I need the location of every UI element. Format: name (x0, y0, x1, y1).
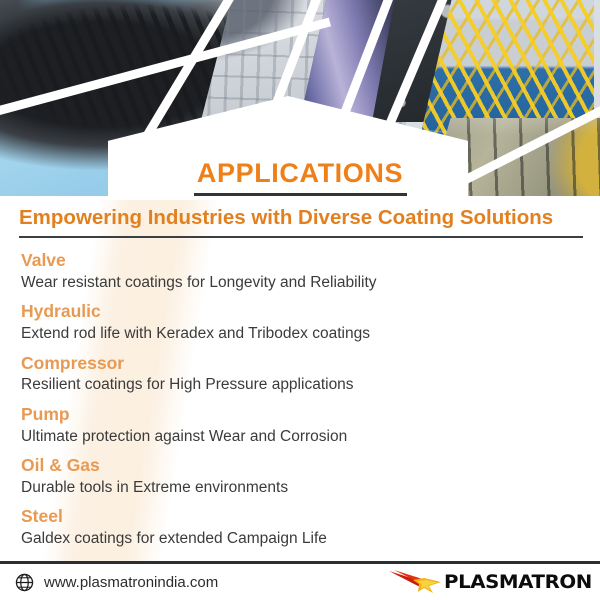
application-description: Resilient coatings for High Pressure app… (21, 375, 581, 394)
list-item: Compressor Resilient coatings for High P… (21, 353, 581, 395)
list-item: Hydraulic Extend rod life with Keradex a… (21, 301, 581, 343)
subtitle: Empowering Industries with Diverse Coati… (19, 206, 583, 230)
collage-bottom-edge (0, 196, 600, 200)
application-description: Galdex coatings for extended Campaign Li… (21, 529, 581, 548)
subtitle-block: Empowering Industries with Diverse Coati… (19, 206, 583, 238)
footer: www.plasmatronindia.com PLASMATRON (0, 564, 600, 600)
plasmatron-logo[interactable]: PLASMATRON (388, 567, 586, 597)
comet-spark-icon (388, 569, 450, 595)
website-url-text: www.plasmatronindia.com (44, 575, 218, 590)
list-item: Steel Galdex coatings for extended Campa… (21, 506, 581, 548)
list-item: Pump Ultimate protection against Wear an… (21, 404, 581, 446)
application-name: Compressor (21, 353, 581, 375)
subtitle-underline (19, 236, 583, 239)
application-description: Wear resistant coatings for Longevity an… (21, 273, 581, 292)
globe-icon (14, 572, 35, 593)
application-description: Extend rod life with Keradex and Tribode… (21, 324, 581, 343)
list-item: Valve Wear resistant coatings for Longev… (21, 250, 581, 292)
logo-wordmark: PLASMATRON (444, 573, 592, 592)
website-link[interactable]: www.plasmatronindia.com (14, 572, 218, 593)
application-name: Steel (21, 506, 581, 528)
applications-list: Valve Wear resistant coatings for Longev… (21, 250, 581, 558)
application-name: Hydraulic (21, 301, 581, 323)
application-description: Durable tools in Extreme environments (21, 478, 581, 497)
page-title: APPLICATIONS (193, 160, 407, 193)
application-name: Oil & Gas (21, 455, 581, 477)
poster-root: APPLICATIONS Empowering Industries with … (0, 0, 600, 600)
page-title-block: APPLICATIONS (0, 160, 600, 196)
application-description: Ultimate protection against Wear and Cor… (21, 427, 581, 446)
page-title-underline (194, 193, 407, 196)
list-item: Oil & Gas Durable tools in Extreme envir… (21, 455, 581, 497)
application-name: Pump (21, 404, 581, 426)
application-name: Valve (21, 250, 581, 272)
